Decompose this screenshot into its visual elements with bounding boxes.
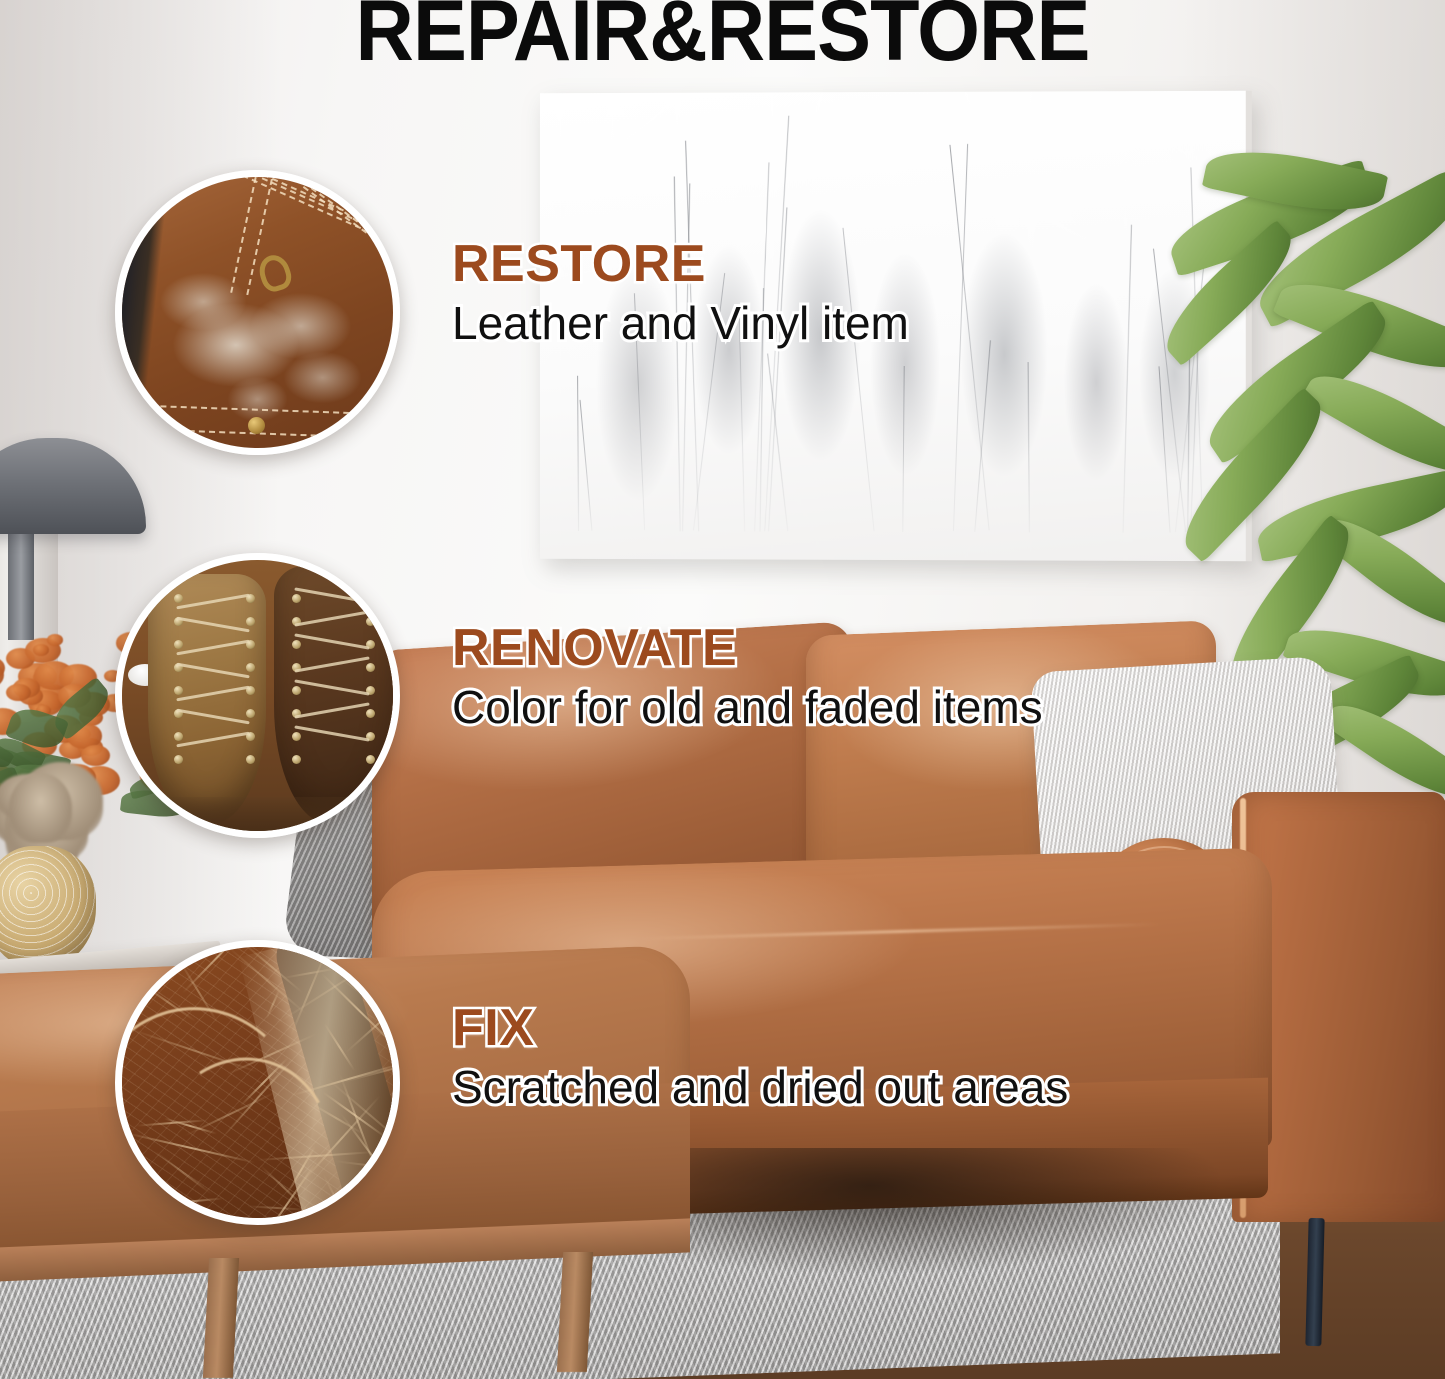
boot-lace-eyelet — [246, 709, 255, 718]
sofa-metal-leg — [1305, 1218, 1324, 1346]
pampas-plume — [9, 773, 72, 843]
artwork-stem — [1123, 224, 1132, 532]
product-feature-poster: REPAIR&RESTORE RESTORE Leather and Vinyl… — [0, 0, 1445, 1379]
boot-lace-eyelet — [366, 617, 375, 626]
bag-zipper-pull — [255, 251, 295, 295]
boot-lace-eyelet — [174, 755, 183, 764]
artwork-stem — [674, 176, 681, 531]
plant-leaf — [1300, 357, 1445, 491]
dried-flower-bloom — [47, 634, 64, 646]
dried-flower-bloom — [81, 745, 110, 766]
artwork-stem — [768, 353, 789, 531]
subline-renovate: Color for old and faded items — [452, 682, 1043, 734]
subline-fix: Scratched and dried out areas — [452, 1062, 1068, 1114]
boot-lace-eyelet — [292, 640, 301, 649]
boot-lace-eyelet — [174, 640, 183, 649]
scratched-leather-surface-closeup — [122, 947, 393, 1218]
subline-restore: Leather and Vinyl item — [452, 298, 909, 350]
boot-lace-eyelet — [366, 755, 375, 764]
boot-lace-eyelet — [174, 594, 183, 603]
headline-renovate: RENOVATE — [452, 620, 1043, 676]
artwork-stem — [580, 400, 593, 531]
ottoman-leg-right — [557, 1252, 593, 1372]
bag-stitching — [140, 405, 390, 416]
boot-lace-eyelet — [246, 617, 255, 626]
boot-lace-eyelet — [246, 755, 255, 764]
callout-text-renovate: RENOVATE Color for old and faded items — [452, 620, 1043, 734]
boot-lace-eyelet — [174, 686, 183, 695]
boot-lace-eyelet — [292, 686, 301, 695]
page-title: REPAIR&RESTORE — [43, 0, 1401, 76]
bag-stitching — [303, 186, 400, 270]
boot-lace-eyelet — [174, 732, 183, 741]
dried-flower-bloom — [33, 644, 49, 656]
bag-stitching — [148, 429, 398, 440]
boot-lace-eyelet — [292, 594, 301, 603]
headline-restore: RESTORE — [452, 236, 909, 292]
bag-dark-edge — [115, 205, 166, 395]
bag-rivet — [248, 417, 265, 434]
boot-lace-eyelet — [292, 755, 301, 764]
boot-restored-right — [274, 566, 394, 824]
boot-lace-eyelet — [366, 709, 375, 718]
callout-text-fix: FIX Scratched and dried out areas — [452, 1000, 1068, 1114]
worn-leather-boots-pair — [122, 560, 393, 831]
artwork-stem — [577, 375, 579, 531]
artwork-stem — [1027, 362, 1029, 532]
dried-flower-bloom — [6, 684, 30, 701]
artwork-stem — [975, 340, 992, 532]
callout-image-fix — [115, 940, 400, 1225]
artwork-stem — [902, 366, 904, 532]
boot-lace-eyelet — [246, 663, 255, 672]
worn-leather-bag-closeup — [122, 177, 393, 448]
callout-image-renovate — [115, 553, 400, 838]
ottoman-leg-left — [203, 1258, 239, 1378]
boots-floor — [122, 797, 393, 831]
boot-lace-eyelet — [366, 663, 375, 672]
callout-image-restore — [115, 170, 400, 455]
headline-fix: FIX — [452, 1000, 1068, 1056]
callout-text-restore: RESTORE Leather and Vinyl item — [452, 236, 909, 350]
boot-faded-left — [148, 574, 266, 824]
boot-lace-eyelet — [292, 732, 301, 741]
